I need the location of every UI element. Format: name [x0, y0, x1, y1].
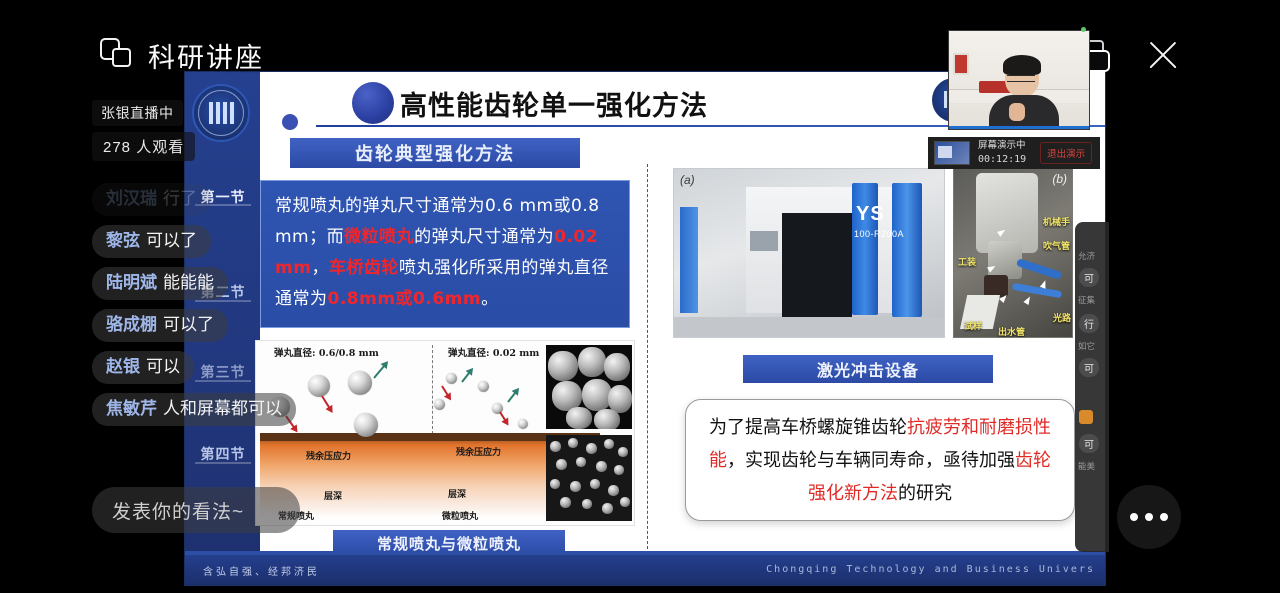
- photo-b-label-robot-arm: 机械手: [1043, 215, 1070, 228]
- chat-message-list: 刘汉瑞行了 黎弦可以了 陆明斌能能能 骆成棚可以了 赵银可以 焦敏芹人和屏幕都可…: [92, 183, 392, 435]
- diagram-label-right-diameter: 弹丸直径: 0.02 mm: [448, 345, 539, 359]
- diagram-process-right: 微粒喷丸: [442, 509, 478, 522]
- machine-brand-label: YS: [856, 203, 885, 226]
- micro-shot-ball: [446, 373, 457, 384]
- desc-seg-2: 的弹丸尺寸通常为: [414, 227, 554, 247]
- micro-shot-ball: [478, 381, 489, 392]
- sharing-elapsed-time: 00:12:19: [978, 154, 1026, 166]
- presenter-webcam-video[interactable]: [948, 30, 1090, 130]
- decorative-circle-large-icon: [352, 82, 394, 124]
- right-panel-line-4: 能美: [1078, 460, 1095, 472]
- slide-title: 高性能齿轮单一强化方法: [400, 84, 708, 123]
- list-item: 骆成棚可以了: [92, 309, 228, 342]
- screen-sharing-status-bar: 屏幕演示中 00:12:19 退出演示: [928, 137, 1100, 169]
- comment-input[interactable]: 发表你的看法~: [92, 487, 300, 533]
- live-stream-screen: 科研讲座 第一节 第二节 第三节 第四节 高性能齿轮单一强化方法 重 Chong…: [0, 0, 1280, 593]
- diagram-depth-label-left: 层深: [324, 489, 342, 502]
- machine-model-label: 100-R200A: [854, 229, 904, 239]
- photo-b-label-water-outlet: 出水管: [998, 325, 1025, 338]
- photo-b-label-specimen: 试样: [964, 319, 982, 332]
- recording-indicator-icon: [1081, 27, 1086, 32]
- diagram-stress-label-left: 残余压应力: [306, 449, 351, 462]
- chat-user: 刘汉瑞: [106, 189, 157, 208]
- slide-footer: 含弘自强、经邦济民 Chongqing Technology and Busin…: [185, 555, 1105, 585]
- slide-section-4: 第四节: [189, 444, 257, 464]
- sem-image-fine-shot: [546, 435, 632, 521]
- photo-b-tag: (b): [1052, 172, 1067, 186]
- chat-text: 行了: [163, 189, 197, 208]
- laser-equipment-photo-b: (b) 机械手 吹气管 工装 试样 出水管 光路: [953, 168, 1073, 338]
- photo-b-label-optical-path: 光路: [1053, 311, 1071, 324]
- collapsed-chat-panel[interactable]: 允济 可 征集 行 如它 可 可 能美: [1075, 222, 1109, 552]
- impact-arrow: [499, 411, 507, 422]
- list-item: 刘汉瑞行了: [92, 183, 211, 216]
- impact-arrow: [441, 385, 450, 397]
- chat-user: 赵银: [106, 357, 140, 376]
- diagram-stress-label-right: 残余压应力: [456, 445, 501, 458]
- chat-user: 陆明斌: [106, 273, 157, 292]
- diagram-depth-label-right: 层深: [448, 487, 466, 500]
- slide-footer-university-en: Chongqing Technology and Business Univer…: [766, 564, 1095, 575]
- right-panel-chip-4: 可: [1079, 434, 1099, 453]
- right-panel-avatar: [1079, 410, 1093, 424]
- conclusion-seg-2: ，实现齿轮与车辆同寿命，亟待加强: [727, 450, 1015, 471]
- slide-column-divider: [647, 164, 648, 554]
- desc-seg-5: 。: [481, 289, 499, 309]
- screen-share-thumbnail: [934, 141, 970, 165]
- sharing-status-text: 屏幕演示中: [978, 140, 1026, 152]
- equipment-caption: 激光冲击设备: [743, 355, 993, 383]
- university-logo-left-icon: [192, 84, 250, 142]
- list-item: 赵银可以: [92, 351, 194, 384]
- stop-sharing-button[interactable]: 退出演示: [1040, 142, 1092, 164]
- slide-footer-motto: 含弘自强、经邦济民: [203, 563, 320, 578]
- windows-stack-icon: [100, 38, 133, 68]
- chat-text: 可以了: [146, 231, 197, 250]
- chat-text: 人和屏幕都可以: [163, 399, 282, 418]
- chat-user: 焦敏芹: [106, 399, 157, 418]
- chat-text: 能能能: [163, 273, 214, 292]
- viewer-count-badge: 278 人观看: [92, 132, 195, 161]
- slide-subtitle-band: 齿轮典型强化方法: [290, 138, 580, 168]
- right-panel-chip-1: 可: [1079, 268, 1099, 287]
- photo-b-label-air-tube: 吹气管: [1043, 239, 1070, 252]
- micro-shot-ball: [518, 419, 528, 429]
- list-item: 黎弦可以了: [92, 225, 211, 258]
- right-panel-chip-3: 可: [1079, 358, 1099, 377]
- list-item: 焦敏芹人和屏幕都可以: [92, 393, 296, 426]
- right-panel-chip-2: 行: [1079, 314, 1099, 333]
- chat-user: 黎弦: [106, 231, 140, 250]
- micro-shot-ball: [434, 399, 445, 410]
- decorative-circle-small-icon: [282, 114, 298, 130]
- more-options-icon[interactable]: [1117, 485, 1181, 549]
- right-panel-line-1: 允济: [1078, 250, 1095, 262]
- right-panel-line-2: 征集: [1078, 294, 1095, 306]
- conclusion-seg-3: 的研究: [898, 483, 952, 504]
- live-status-badge: 张银直播中: [92, 100, 183, 126]
- laser-equipment-photo-a: YS 100-R200A (a): [673, 168, 945, 338]
- conclusion-seg-1: 为了提高车桥螺旋锥齿轮: [709, 417, 907, 438]
- right-panel-line-3: 如它: [1078, 340, 1095, 352]
- close-icon[interactable]: [1142, 34, 1184, 76]
- photo-a-tag: (a): [680, 173, 695, 187]
- chat-text: 可以了: [163, 315, 214, 334]
- list-item: 陆明斌能能能: [92, 267, 228, 300]
- page-title: 科研讲座: [148, 36, 264, 75]
- sem-image-coarse-shot: [546, 345, 632, 429]
- chat-text: 可以: [146, 357, 180, 376]
- conclusion-box: 为了提高车桥螺旋锥齿轮抗疲劳和耐磨损性能，实现齿轮与车辆同寿命，亟待加强齿轮强化…: [685, 399, 1075, 521]
- chat-user: 骆成棚: [106, 315, 157, 334]
- rebound-arrow: [461, 370, 471, 382]
- rebound-arrow: [507, 390, 517, 402]
- photo-b-label-fixture: 工装: [958, 255, 976, 268]
